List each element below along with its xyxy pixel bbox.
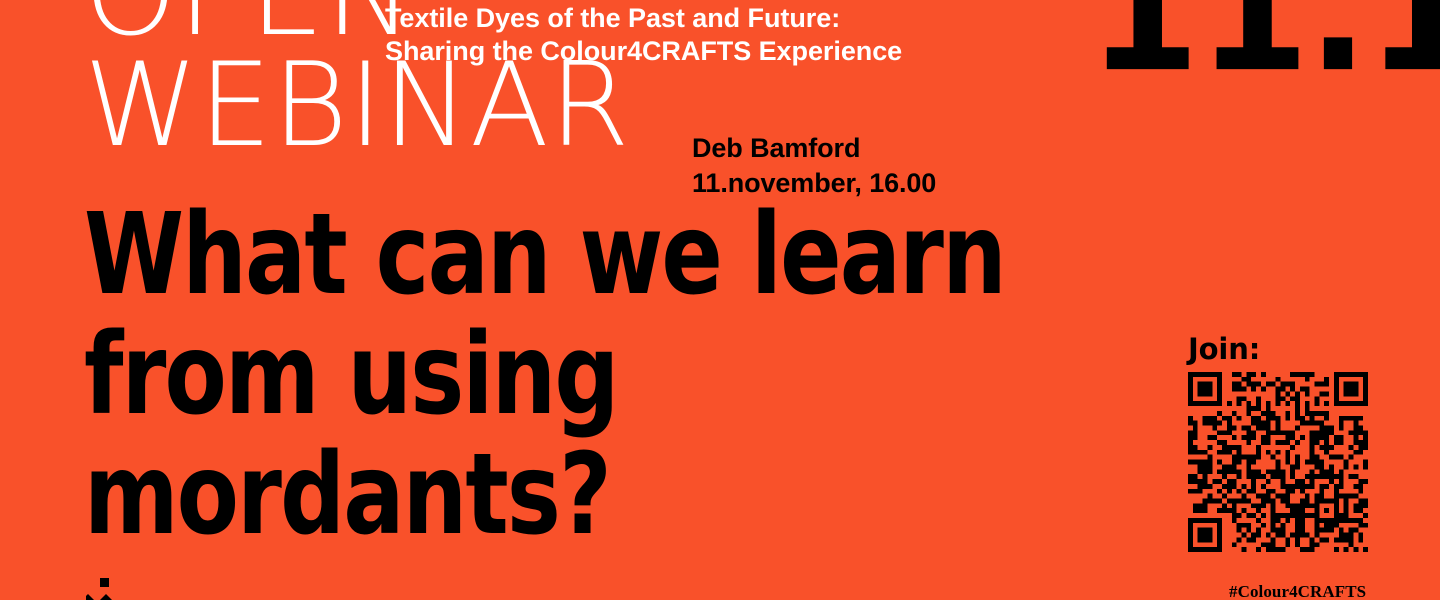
headline-line-2: from using xyxy=(84,316,1005,436)
kicker-line-webinar: WEBINAR xyxy=(84,53,701,160)
headline-line-1: What can we learn xyxy=(84,196,1005,316)
event-subtitle: Textile Dyes of the Past and Future: Sha… xyxy=(385,2,985,68)
join-label: Join: xyxy=(1188,332,1260,366)
headline-line-3: mordants? xyxy=(84,436,1005,556)
qr-code[interactable] xyxy=(1188,372,1368,552)
date-badge: 11.11 xyxy=(1088,0,1440,96)
subtitle-line-2: Sharing the Colour4CRAFTS Experience xyxy=(385,35,985,68)
speaker-name: Deb Bamford xyxy=(692,131,936,166)
partner-logo xyxy=(86,578,206,600)
hashtag: #Colour4CRAFTS xyxy=(1229,582,1366,600)
page-title: What can we learn from using mordants? xyxy=(84,196,1005,555)
subtitle-line-1: Textile Dyes of the Past and Future: xyxy=(385,2,985,35)
